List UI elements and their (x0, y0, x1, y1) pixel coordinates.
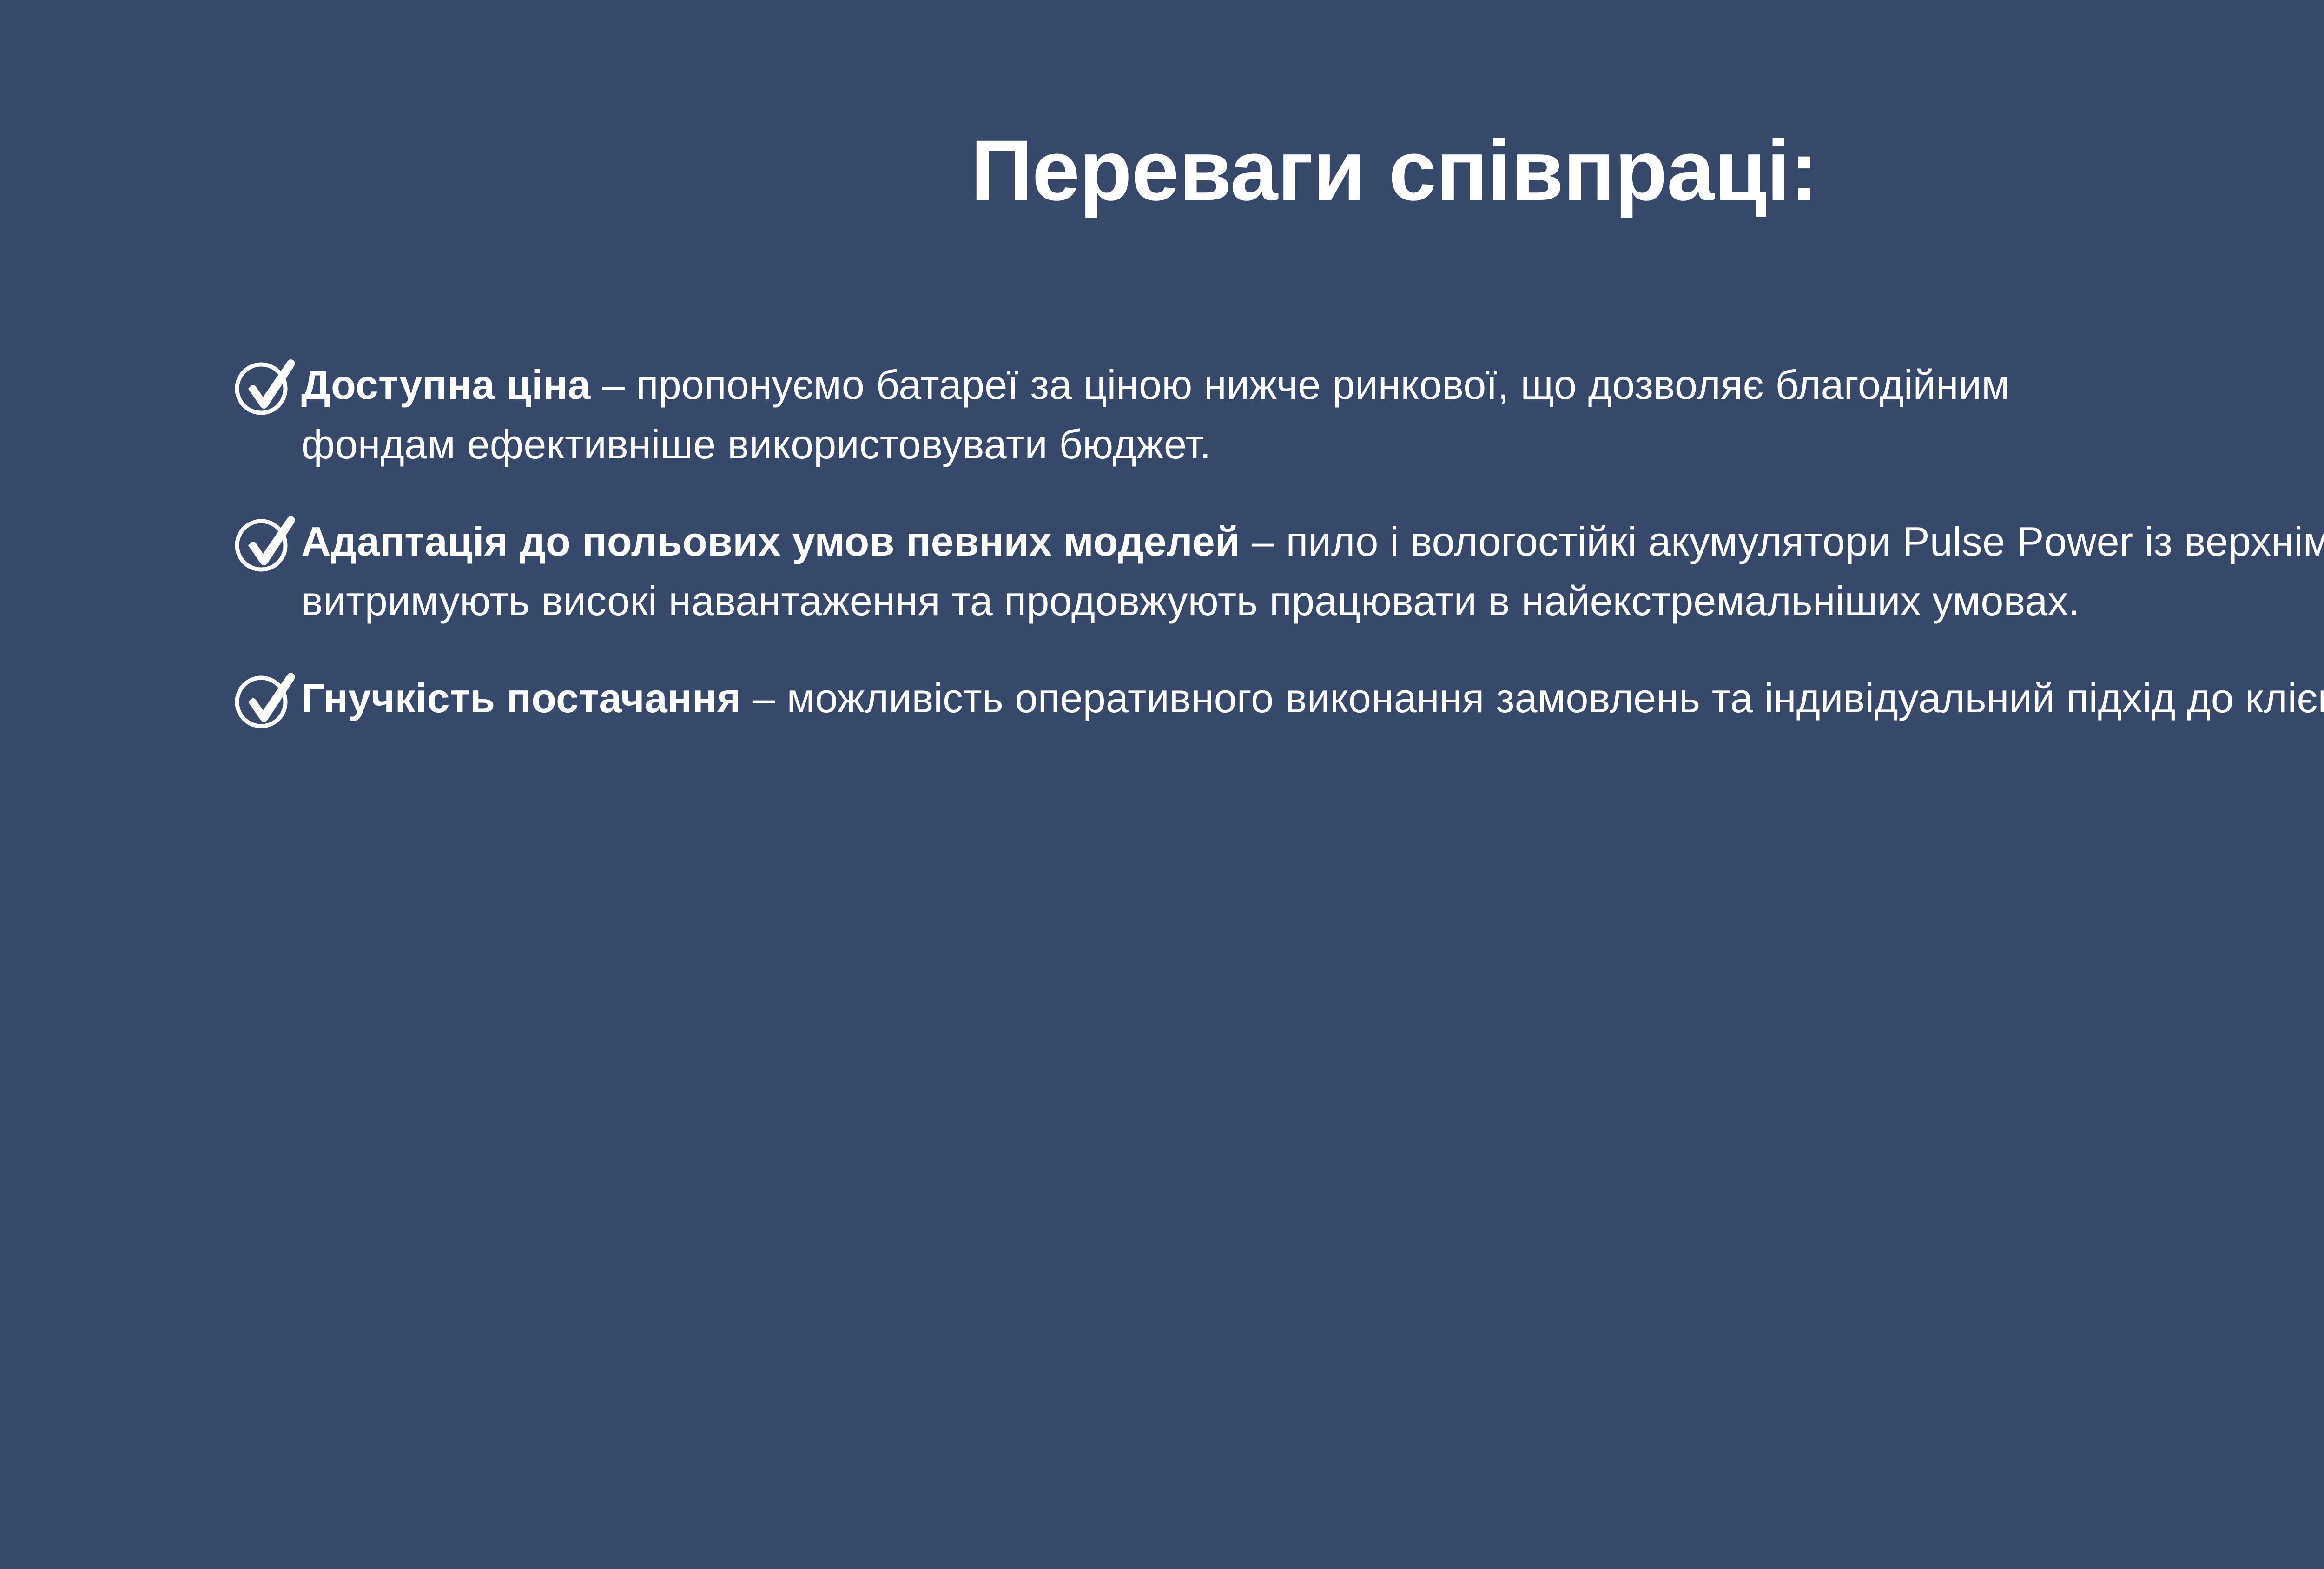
check-circle-icon (231, 511, 301, 576)
list-item-lead: Гнучкість постачання (301, 675, 741, 721)
check-circle-icon (231, 668, 301, 733)
list-item-lead: Адаптація до польових умов певних моделе… (301, 518, 1240, 564)
list-item-text: Доступна ціна – пропонуємо батареї за ці… (301, 353, 2114, 474)
list-item-text: Гнучкість постачання – можливість операт… (301, 667, 2324, 728)
list-item-lead: Доступна ціна (301, 362, 590, 408)
list-item: Адаптація до польових умов певних моделе… (231, 510, 2324, 630)
check-circle-icon (231, 354, 301, 419)
benefits-list: Доступна ціна – пропонуємо батареї за ці… (231, 353, 2324, 733)
slide-root: Переваги співпраці: Доступна ціна – проп… (0, 0, 2324, 1569)
list-item-text: Адаптація до польових умов певних моделе… (301, 510, 2324, 630)
page-title: Переваги співпраці: (0, 125, 2324, 218)
list-item: Доступна ціна – пропонуємо батареї за ці… (231, 353, 2324, 474)
list-item: Гнучкість постачання – можливість операт… (231, 667, 2324, 733)
list-item-rest: – можливість оперативного виконання замо… (741, 675, 2324, 721)
